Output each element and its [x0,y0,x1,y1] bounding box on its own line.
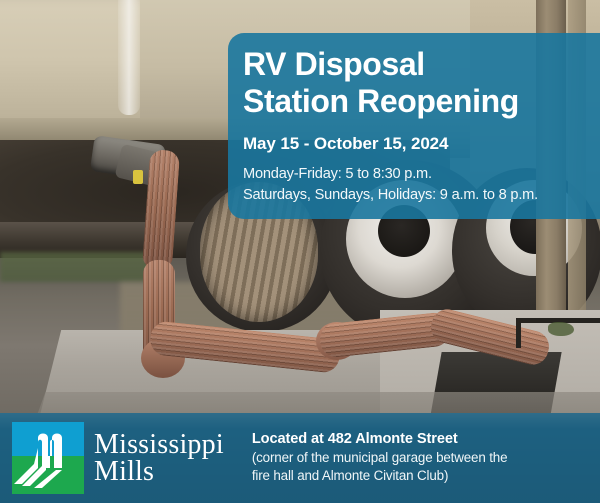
sewer-cap [133,170,143,184]
address-line-2: fire hall and Almonte Civitan Club) [252,467,508,485]
rv-body-seam [118,0,140,115]
info-panel: RV Disposal Station Reopening May 15 - O… [228,33,600,219]
season-dates: May 15 - October 15, 2024 [243,134,586,154]
poster-canvas: RV Disposal Station Reopening May 15 - O… [0,0,600,503]
metal-rail-leg [516,318,521,348]
brand-logo: Mississippi Mills [12,422,224,494]
brand-wordmark: Mississippi Mills [94,431,224,486]
logo-mill-glyph [12,422,84,494]
footer-bar: Mississippi Mills Located at 482 Almonte… [0,413,600,503]
grass-patch [0,252,160,282]
footer-content: Mississippi Mills Located at 482 Almonte… [0,413,600,503]
weed-patch [548,322,574,336]
address-line-1: (corner of the municipal garage between … [252,449,508,467]
hours-line-weekend: Saturdays, Sundays, Holidays: 9 a.m. to … [243,185,586,206]
hours-list: Monday-Friday: 5 to 8:30 p.m. Saturdays,… [243,164,586,205]
hours-line-weekday: Monday-Friday: 5 to 8:30 p.m. [243,164,586,185]
address-block: Located at 482 Almonte Street (corner of… [252,431,508,485]
page-title: RV Disposal Station Reopening [243,46,586,120]
address-title: Located at 482 Almonte Street [252,431,508,447]
mississippi-mills-logo-icon [12,422,84,494]
